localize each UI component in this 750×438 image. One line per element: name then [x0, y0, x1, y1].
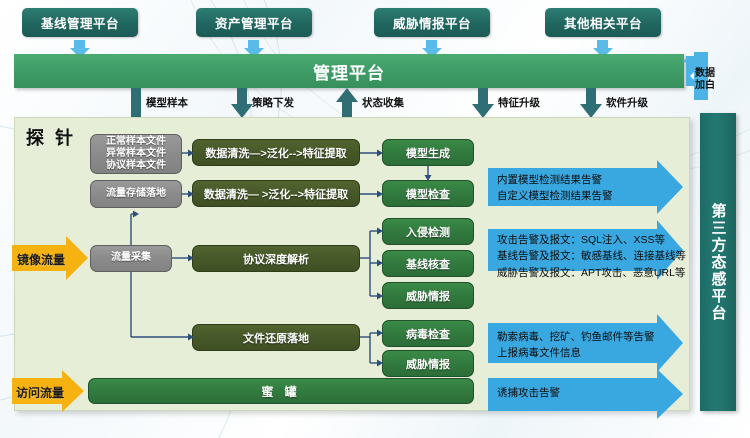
callout-1-line-2: 自定义模型检测结果告警 — [497, 188, 613, 204]
callout-4-text: 诱捕攻击告警 — [497, 385, 560, 401]
callout-3-line-2: 上报病毒文件信息 — [497, 345, 655, 361]
callout-2-line-3: 威胁告警及报文：APT攻击、恶意URL等 — [497, 265, 686, 281]
callout-3-text: 勒索病毒、挖矿、钓鱼邮件等告警 上报病毒文件信息 — [497, 329, 655, 362]
third-party-platform-bar[interactable]: 第三方态感平台 — [700, 113, 736, 411]
third-party-platform-label: 第三方态感平台 — [708, 203, 729, 322]
callout-1-line-1: 内置模型检测结果告警 — [497, 172, 613, 188]
callout-2-line-1: 攻击告警及报文：SQL注入、XSS等 — [497, 232, 686, 248]
callout-arrows-layer — [0, 0, 750, 438]
diagram-canvas: 基线管理平台 资产管理平台 威胁情报平台 其他相关平台 管理平台 数据 加白 — [0, 0, 750, 438]
callout-4-line-1: 诱捕攻击告警 — [497, 385, 560, 401]
callout-2-line-2: 基线告警及报文：敏感基线、连接基线等 — [497, 248, 686, 264]
callout-3-line-1: 勒索病毒、挖矿、钓鱼邮件等告警 — [497, 329, 655, 345]
callout-2-text: 攻击告警及报文：SQL注入、XSS等 基线告警及报文：敏感基线、连接基线等 威胁… — [497, 232, 686, 281]
callout-1-text: 内置模型检测结果告警 自定义模型检测结果告警 — [497, 172, 613, 205]
